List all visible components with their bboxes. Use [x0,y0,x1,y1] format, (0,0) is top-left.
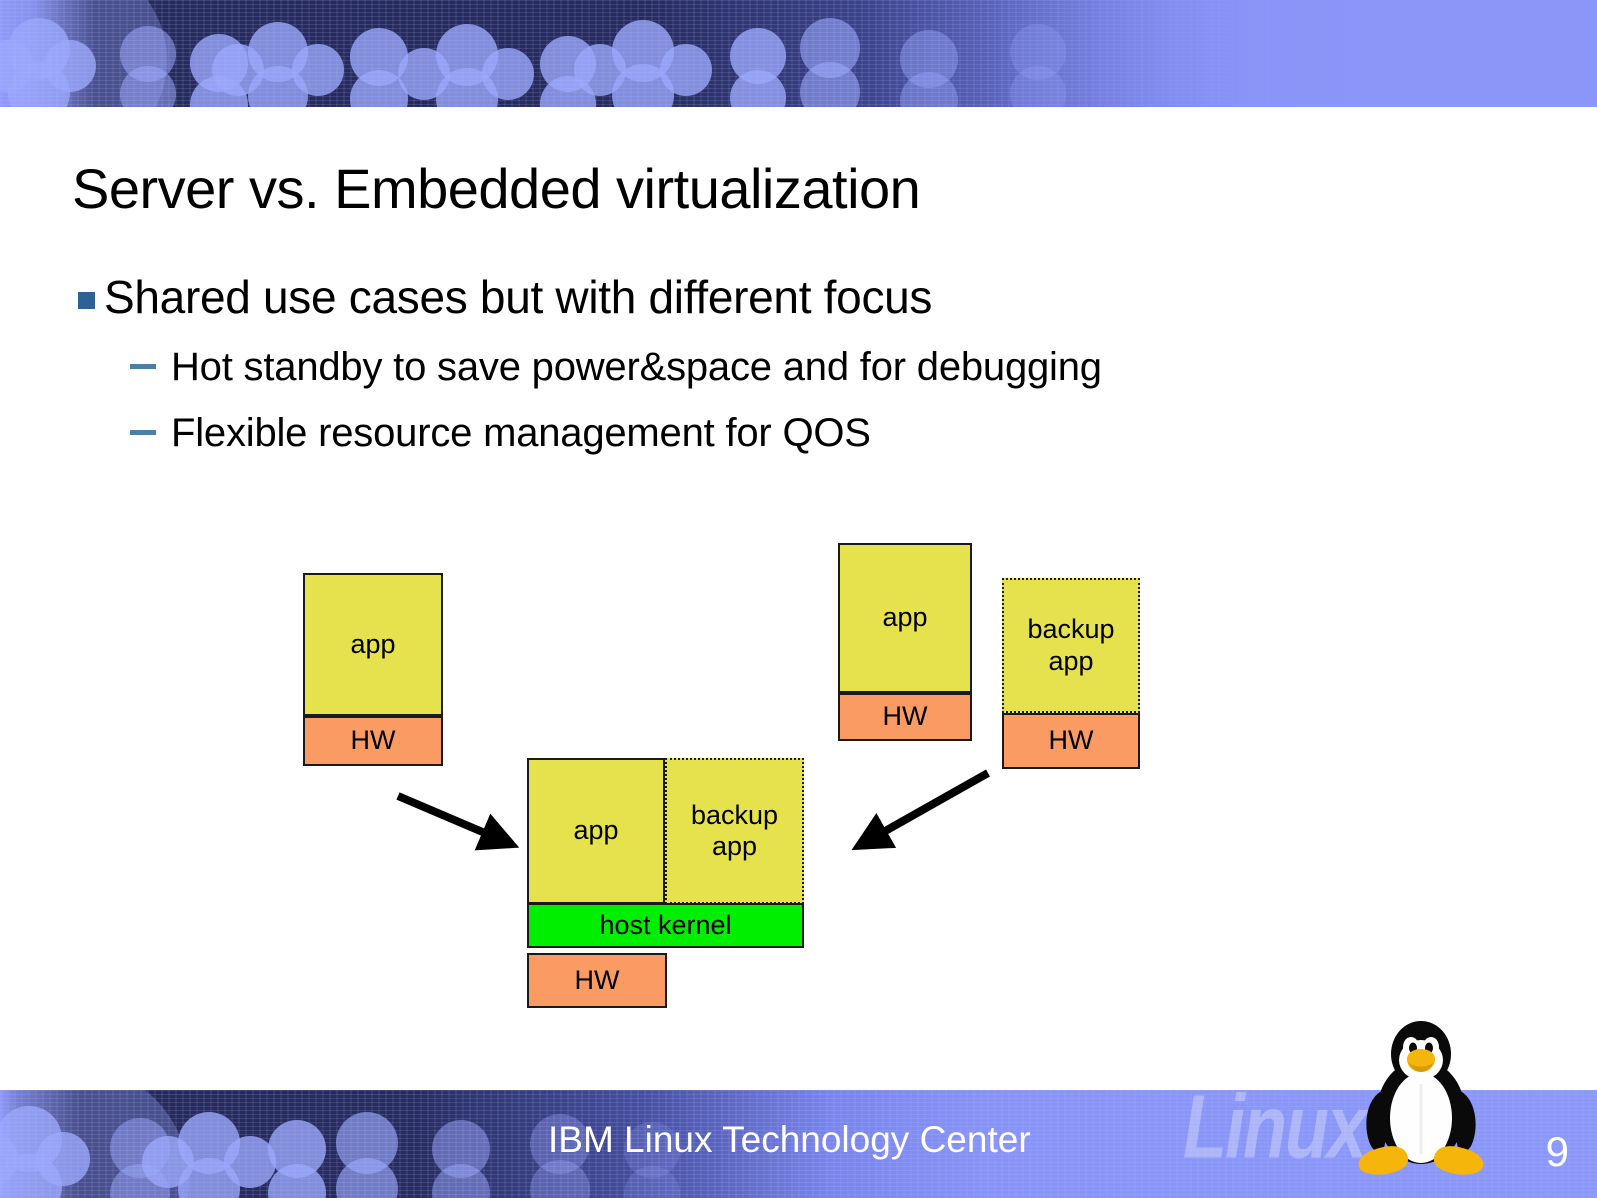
center-backup-app-label-line1: backup [691,800,778,831]
center-backup-app-box[interactable]: backup app [665,758,804,904]
right-backup-app-box[interactable]: backup app [1002,578,1140,713]
left-hw-box[interactable]: HW [303,716,443,766]
arrow-down-left-icon [840,755,1010,865]
left-app-box[interactable]: app [303,573,443,716]
center-backup-app-label-line2: app [712,831,757,862]
right-backup-app-label-line1: backup [1027,614,1114,645]
right-hw-box[interactable]: HW [838,693,972,741]
center-host-kernel-box[interactable]: host kernel [527,903,804,948]
header-divider [0,107,1597,110]
bullet-item-primary: Shared use cases but with different focu… [78,270,1498,324]
right-backup-hw-box[interactable]: HW [1002,713,1140,769]
right-app-box[interactable]: app [838,543,972,693]
arrow-down-right-icon [380,780,540,870]
bullet-sub-label: Flexible resource management for QOS [171,402,871,464]
footer-label: IBM Linux Technology Center [548,1119,1031,1161]
square-bullet-icon [78,292,95,309]
bullet-item-sub-0: Hot standby to save power&space and for … [130,336,1498,398]
bullet-item-sub-1: Flexible resource management for QOS [130,402,1498,464]
page-number: 9 [1546,1128,1569,1176]
page-title: Server vs. Embedded virtualization [72,160,1472,219]
header-gradient-fade [862,0,1597,107]
center-app-box[interactable]: app [527,758,665,904]
bullet-list: Shared use cases but with different focu… [78,270,1498,468]
linux-watermark: Linux [1183,1076,1365,1179]
tux-penguin-icon [1355,1014,1487,1180]
bullet-sub-label: Hot standby to save power&space and for … [171,336,1102,398]
bullet-primary-label: Shared use cases but with different focu… [104,270,932,324]
center-hw-box[interactable]: HW [527,953,667,1008]
dash-bullet-icon [130,430,156,435]
slide-canvas: Server vs. Embedded virtualization Share… [0,0,1597,1198]
header-banner [0,0,1597,107]
dash-bullet-icon [130,364,156,369]
right-backup-app-label-line2: app [1048,646,1093,677]
